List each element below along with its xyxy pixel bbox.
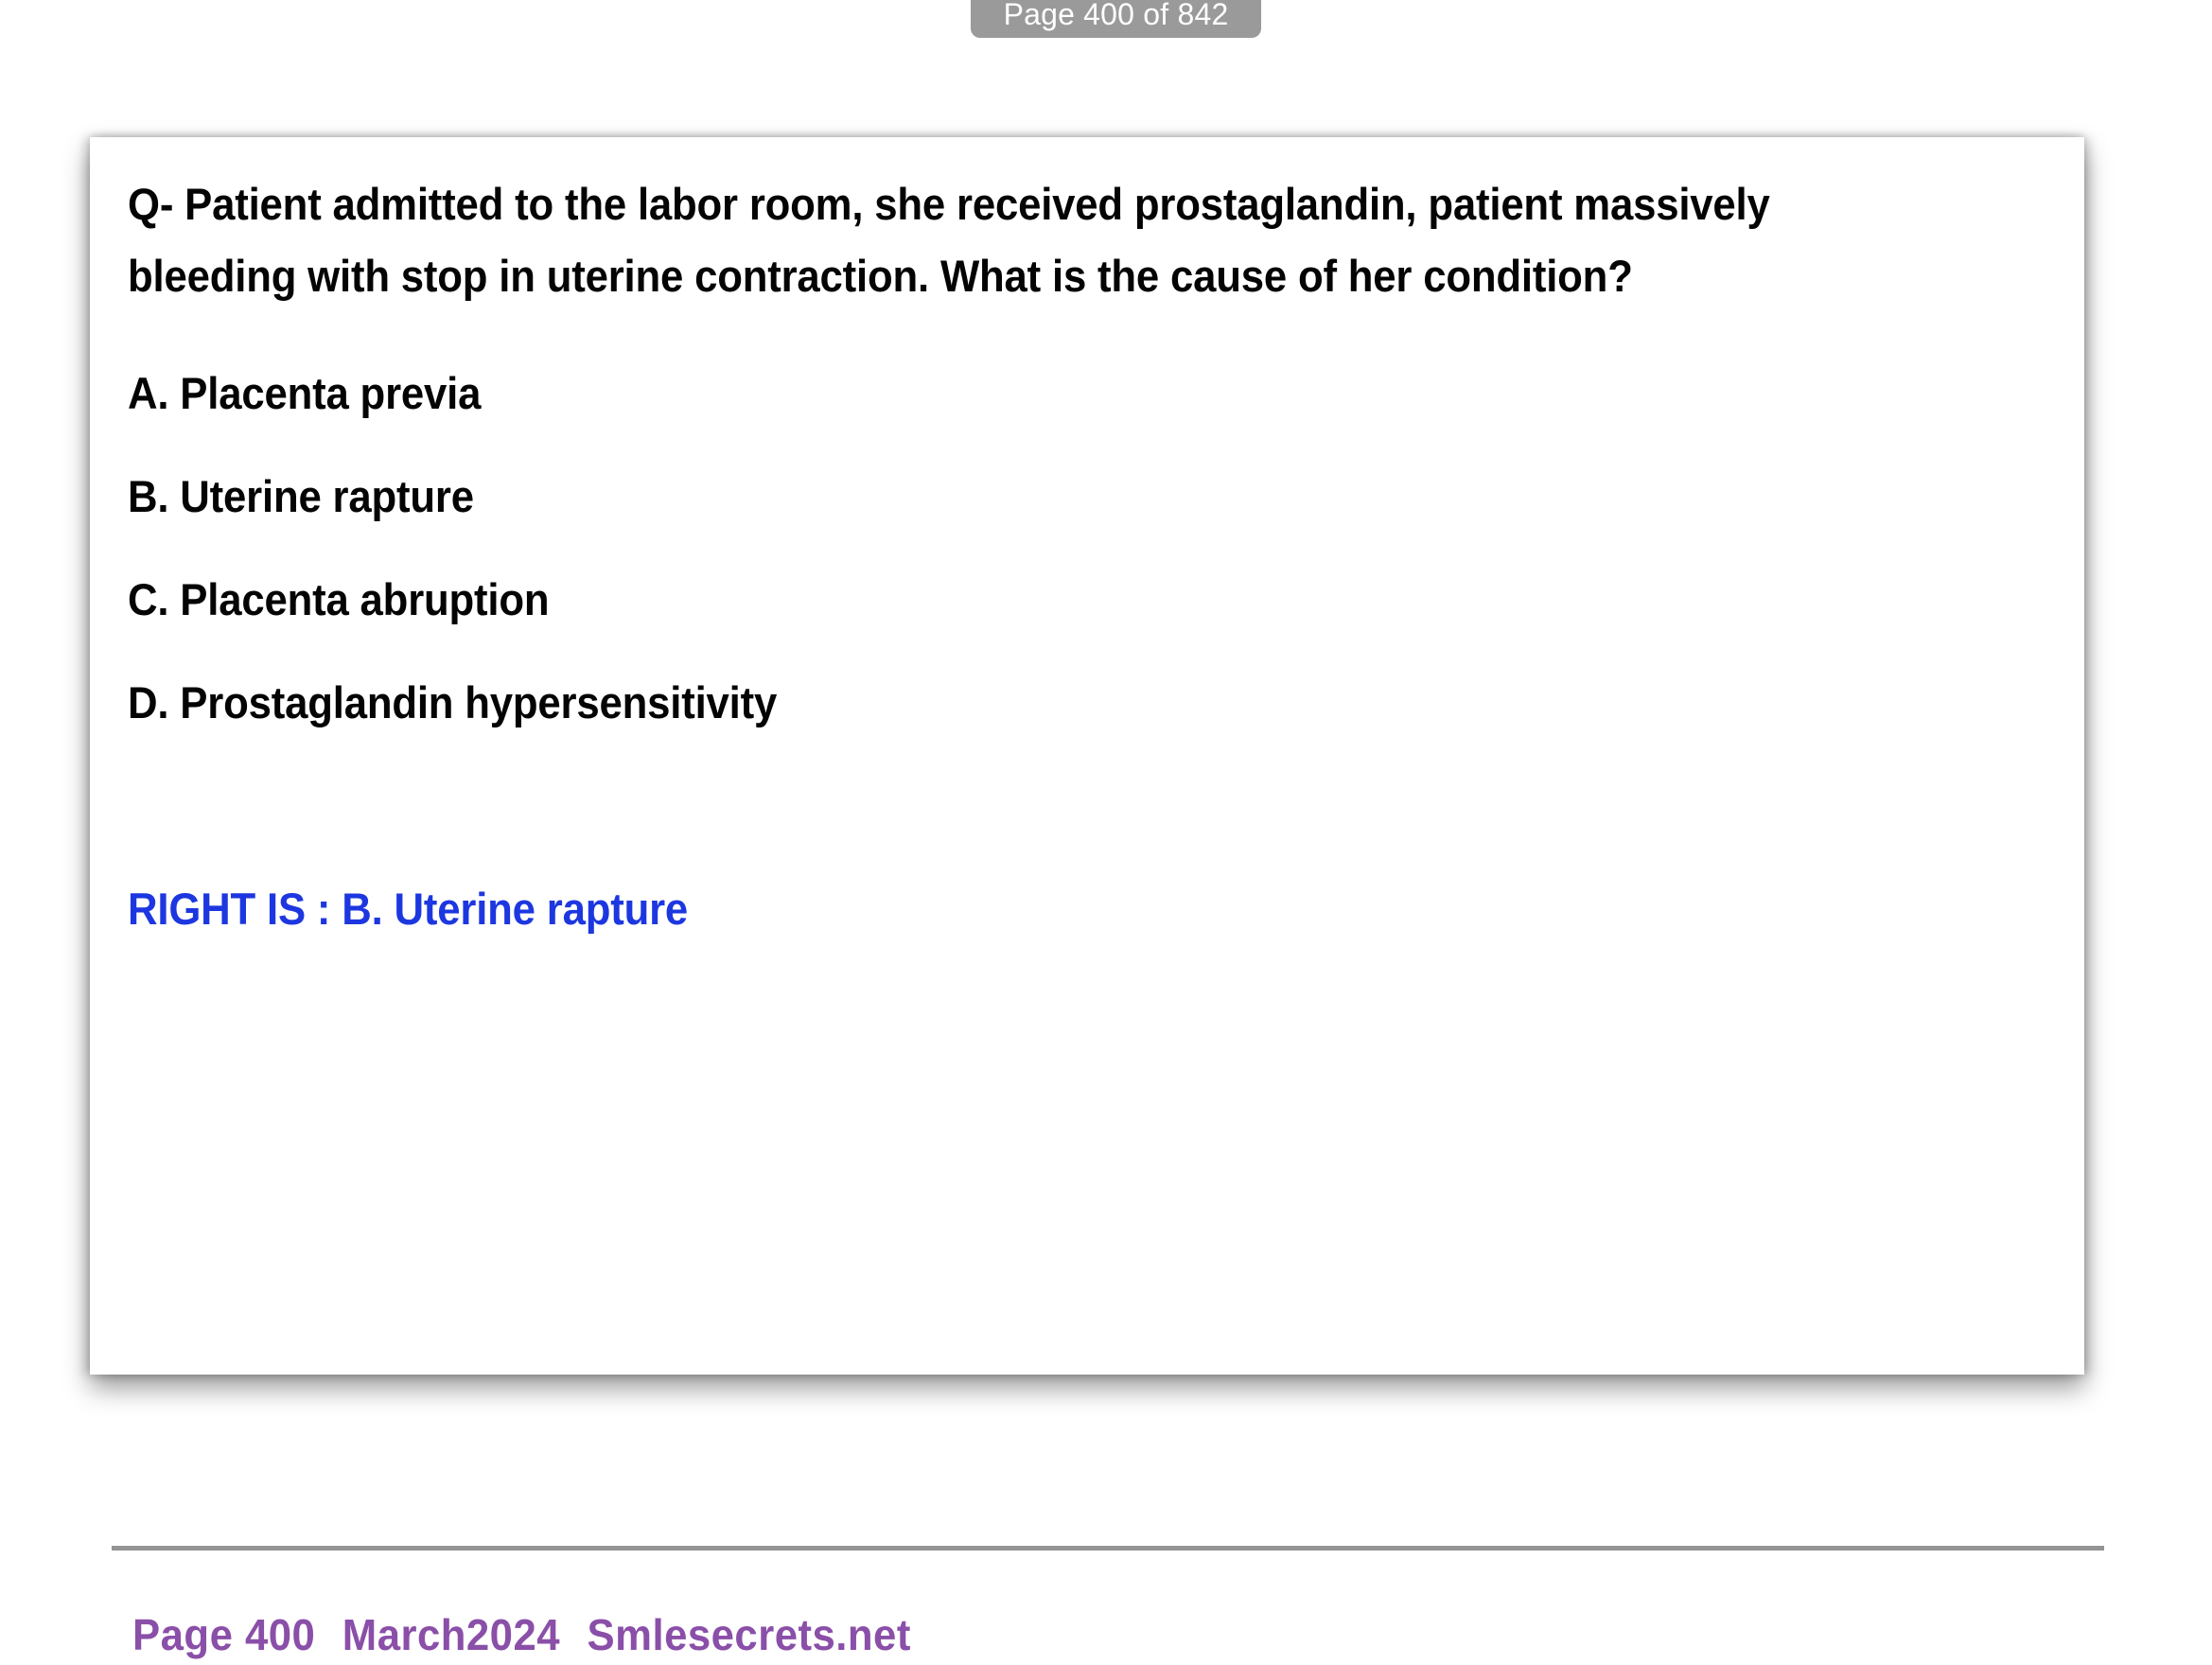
correct-answer-text: RIGHT IS : B. Uterine rapture — [128, 873, 1921, 945]
options-list: A. Placenta previa B. Uterine rapture C.… — [128, 358, 2056, 739]
option-a[interactable]: A. Placenta previa — [128, 358, 1921, 429]
footer-site-label[interactable]: Smlesecrets.net — [588, 1610, 911, 1659]
footer-page-label: Page 400 — [132, 1610, 315, 1659]
footer-divider — [112, 1546, 2104, 1551]
slide-content: Q- Patient admitted to the labor room, s… — [128, 168, 2056, 945]
option-c[interactable]: C. Placenta abruption — [128, 564, 1921, 636]
footer: Page 400March2024Smlesecrets.net — [132, 1610, 911, 1659]
footer-date-label: March2024 — [342, 1610, 560, 1659]
page-indicator-badge: Page 400 of 842 — [971, 0, 1261, 38]
slide-card: Q- Patient admitted to the labor room, s… — [90, 137, 2084, 1375]
option-d[interactable]: D. Prostaglandin hypersensitivity — [128, 667, 1921, 739]
question-text: Q- Patient admitted to the labor room, s… — [128, 168, 1887, 312]
option-b[interactable]: B. Uterine rapture — [128, 461, 1921, 533]
answer-block: RIGHT IS : B. Uterine rapture — [128, 873, 2056, 945]
